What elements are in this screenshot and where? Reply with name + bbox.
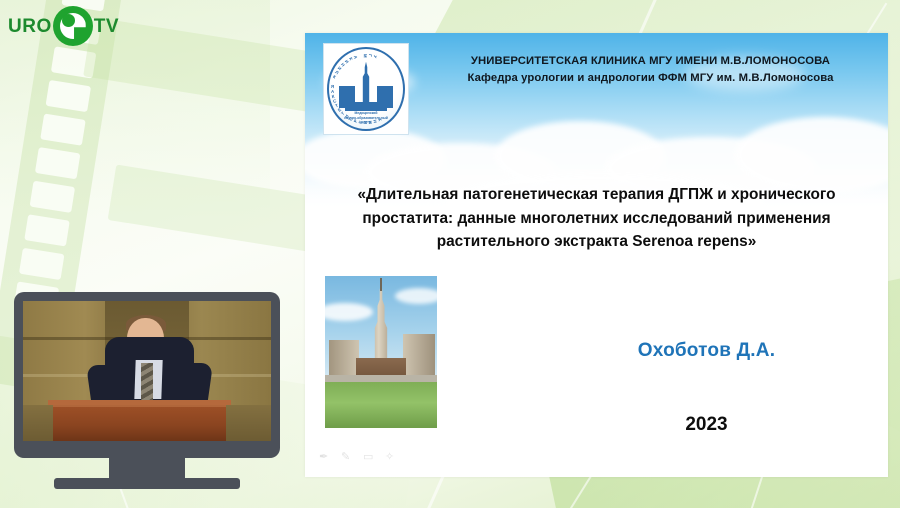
speaker-video-thumbnail[interactable]	[23, 301, 271, 441]
slide-header-line-1: УНИВЕРСИТЕТСКАЯ КЛИНИКА МГУ ИМЕНИ М.В.ЛО…	[423, 53, 878, 70]
slide-author: Охоботов Д.А.	[545, 340, 868, 362]
emblem-disc: УНИВЕРСИТЕТСКАЯ КЛИНИКА МГУ Медицинский …	[327, 47, 405, 131]
monitor-stand	[109, 458, 185, 478]
urotv-leaf-circle-icon	[53, 6, 93, 46]
photo-lawn	[325, 382, 437, 428]
slide-title-line-1: «Длительная патогенетическая терапия ДГП…	[319, 183, 874, 207]
slide-header-line-2: Кафедра урологии и андрологии ФФМ МГУ им…	[423, 70, 878, 87]
monitor-base	[54, 478, 240, 489]
monitor-bezel	[14, 292, 280, 458]
slide-year: 2023	[545, 414, 868, 436]
eraser-tool-icon[interactable]: ✧	[385, 452, 396, 463]
speaker-video-monitor[interactable]	[14, 292, 280, 489]
urotv-logo-suffix: TV	[94, 17, 119, 36]
photo-road	[325, 375, 437, 383]
photo-building-spire	[380, 278, 382, 292]
pointer-tool-icon[interactable]: ✒	[319, 452, 330, 463]
presentation-viewer: URO TV	[0, 0, 900, 508]
msu-university-clinic-emblem: УНИВЕРСИТЕТСКАЯ КЛИНИКА МГУ Медицинский …	[323, 43, 409, 135]
msu-main-building-photo	[325, 276, 437, 428]
slide-title-line-3: растительного экстракта Serenoa repens»	[319, 230, 874, 254]
podium	[53, 405, 227, 441]
annotation-toolbar[interactable]: ✒ ✎ ▭ ✧	[319, 452, 396, 463]
photo-building-wing-right	[403, 334, 434, 380]
urotv-logo[interactable]: URO TV	[8, 5, 119, 47]
slide-canvas[interactable]: УНИВЕРСИТЕТСКАЯ КЛИНИКА МГУ Медицинский …	[305, 33, 888, 477]
urotv-logo-prefix: URO	[8, 17, 52, 36]
emblem-subtitle: Медицинский научно-образовательный центр	[329, 111, 403, 125]
highlighter-tool-icon[interactable]: ▭	[363, 452, 374, 463]
slide-header: УНИВЕРСИТЕТСКАЯ КЛИНИКА МГУ ИМЕНИ М.В.ЛО…	[423, 53, 878, 87]
pen-tool-icon[interactable]: ✎	[341, 452, 352, 463]
slide-title-line-2: простатита: данные многолетних исследова…	[319, 207, 874, 231]
photo-building-wing-left	[329, 340, 358, 380]
slide-title: «Длительная патогенетическая терапия ДГП…	[319, 183, 874, 254]
